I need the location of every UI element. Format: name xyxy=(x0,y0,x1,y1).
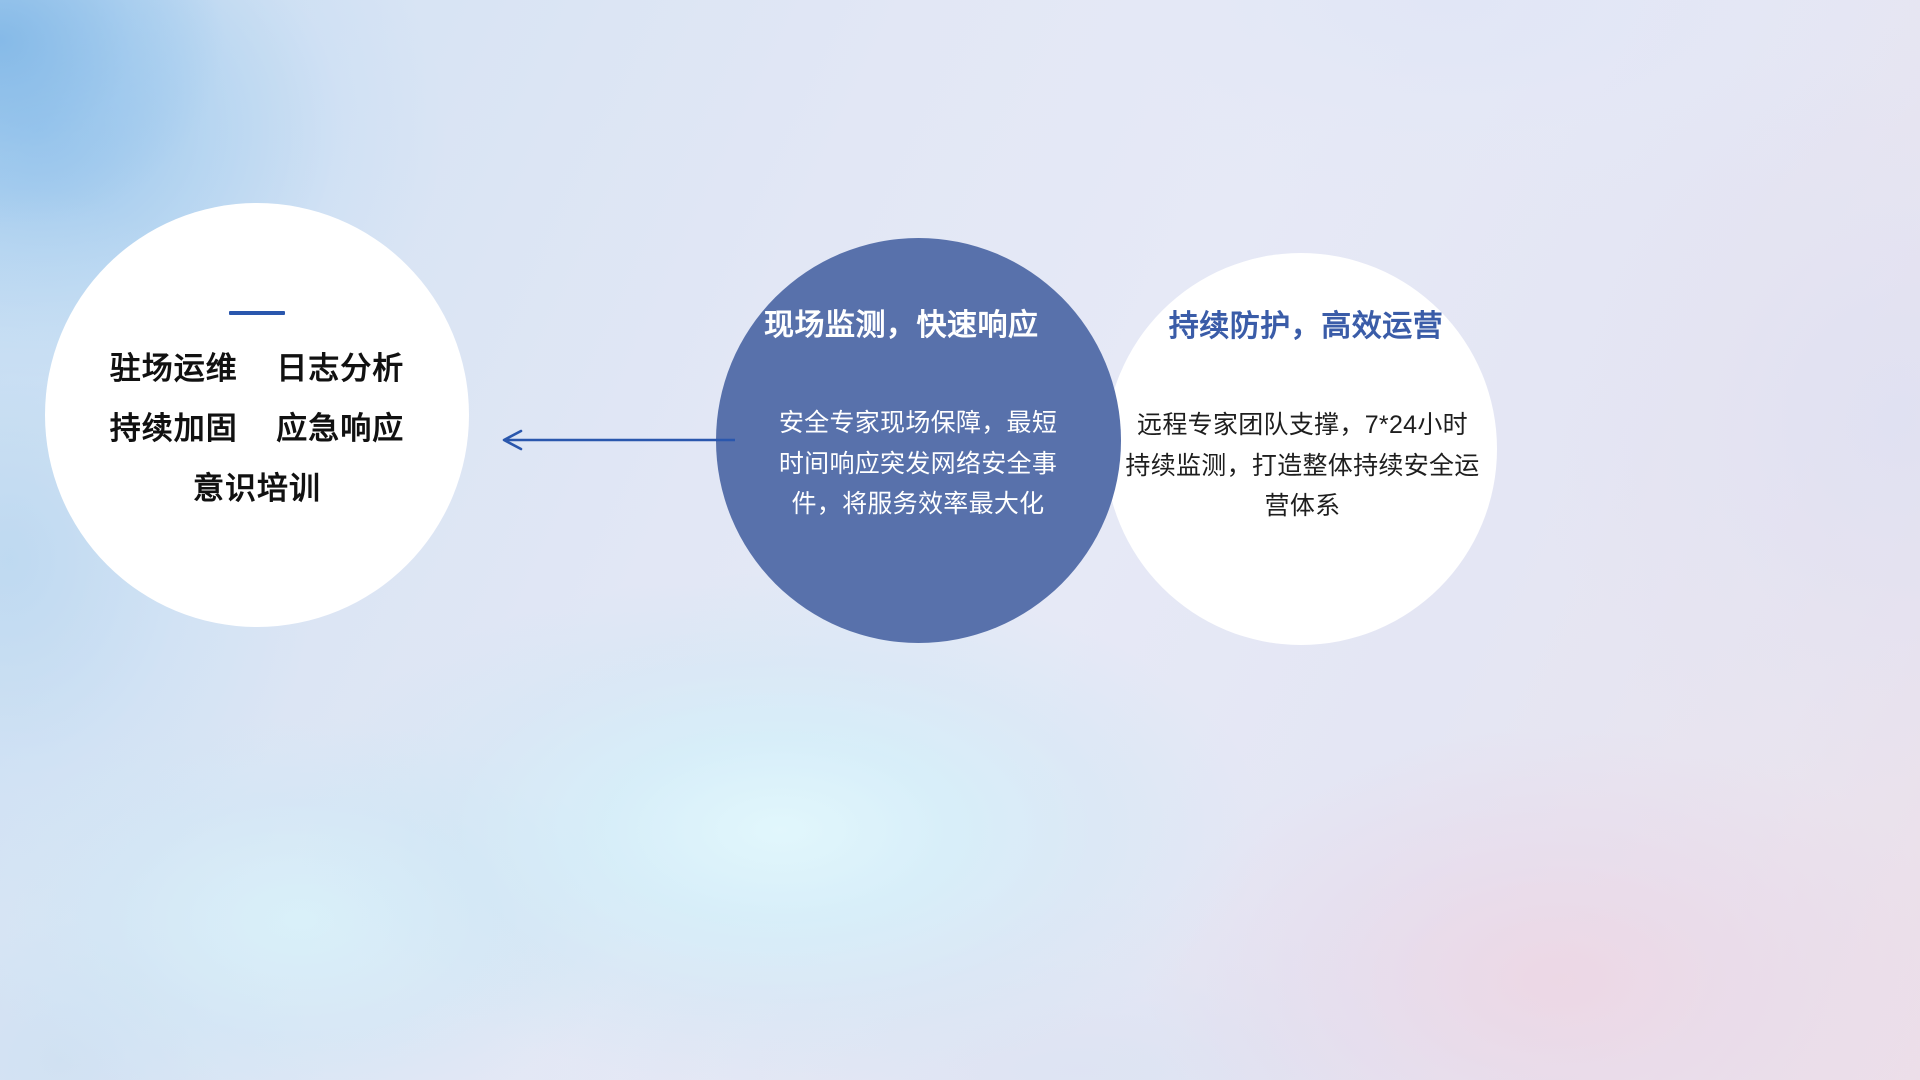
continuous-protection-title: 持续防护，高效运营 xyxy=(1141,301,1471,345)
capabilities-content: 驻场运维 日志分析 持续加固 应急响应 意识培训 xyxy=(45,203,469,627)
capabilities-line-3: 意识培训 xyxy=(193,473,321,504)
capabilities-line-1: 驻场运维 日志分析 xyxy=(110,353,404,384)
slide-canvas: 持续防护，高效运营 远程专家团队支撑，7*24小时持续监测，打造整体持续安全运营… xyxy=(0,0,1920,1080)
continuous-protection-body: 远程专家团队支撑，7*24小时持续监测，打造整体持续安全运营体系 xyxy=(1125,405,1480,527)
dash-divider-icon xyxy=(229,311,285,315)
capabilities-circle[interactable]: 驻场运维 日志分析 持续加固 应急响应 意识培训 xyxy=(45,203,469,627)
onsite-monitoring-title: 现场监测，快速响应 xyxy=(764,300,1184,344)
capabilities-line-2: 持续加固 应急响应 xyxy=(110,413,404,444)
onsite-monitoring-body: 安全专家现场保障，最短时间响应突发网络安全事件，将服务效率最大化 xyxy=(778,403,1058,525)
flow-arrow-left-icon xyxy=(495,420,735,460)
